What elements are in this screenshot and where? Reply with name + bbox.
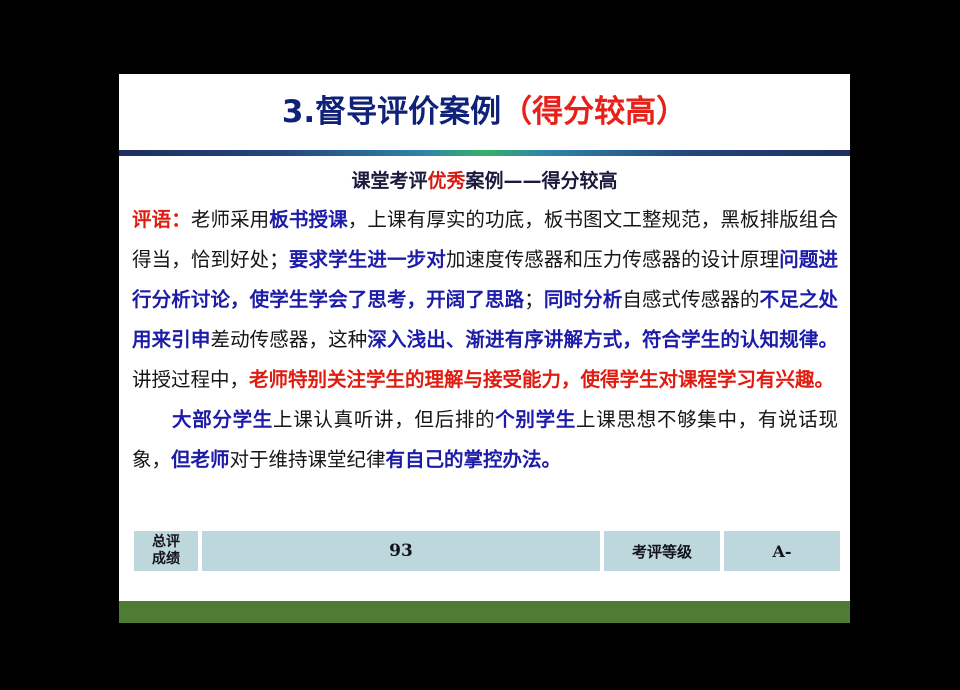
text-run-blk: 自感式传感器的	[622, 288, 759, 311]
text-run-red: 评语：	[132, 208, 191, 231]
text-run-blk: 对于维持课堂纪律	[230, 448, 386, 471]
title-divider-rule	[119, 150, 850, 156]
grade-value-cell: A-	[724, 531, 840, 571]
comment-paragraph: 评语：老师采用板书授课，上课有厚实的功底，板书图文工整规范，黑板排版组合得当，恰…	[132, 200, 838, 400]
slide-subtitle: 课堂考评优秀案例——得分较高	[119, 166, 850, 193]
students-paragraph: 大部分学生上课认真听讲，但后排的个别学生上课思想不够集中，有说话现象，但老师对于…	[132, 400, 838, 480]
slide-body-text: 评语：老师采用板书授课，上课有厚实的功底，板书图文工整规范，黑板排版组合得当，恰…	[132, 200, 838, 480]
slide-title-main: 3.督导评价案例	[282, 97, 501, 128]
total-score-value-cell: 93	[202, 531, 600, 571]
text-run-red: 老师特别关注学生的理解与接受能力，使得学生对课程学习有兴趣。	[249, 368, 834, 391]
text-run-blue: 大部分学生	[172, 408, 273, 431]
total-score-label-line2: 成绩	[152, 551, 180, 568]
text-run-blk: ；	[524, 288, 544, 311]
text-run-blue: 个别学生	[495, 408, 576, 431]
slide-title-parenthetical: （得分较高）	[501, 97, 687, 128]
text-run-blk: 讲授过程中，	[132, 368, 249, 391]
text-run-blue: 要求学生进一步对	[289, 248, 446, 271]
subtitle-part-2: 案例——得分较高	[466, 170, 618, 192]
subtitle-part-1: 课堂考评	[351, 170, 427, 192]
text-run-blue: 但老师	[171, 448, 230, 471]
text-run-blk: 上课认真听讲，但后排的	[273, 408, 495, 431]
screenshot-stage: 3.督导评价案例 （得分较高） 课堂考评优秀案例——得分较高 评语：老师采用板书…	[0, 0, 960, 690]
text-run-blue: 有自己的掌控办法。	[386, 448, 562, 471]
total-score-label-cell: 总评 成绩	[134, 531, 198, 571]
subtitle-highlight: 优秀	[427, 170, 465, 192]
slide-title: 3.督导评价案例 （得分较高）	[119, 74, 850, 150]
text-run-blue: 板书授课	[269, 208, 347, 231]
text-run-blk: 加速度传感器和压力传感器的设计原理	[446, 248, 779, 271]
text-run-blue: 同时分析	[544, 288, 623, 311]
text-run-blue: 深入浅出、渐进有序讲解方式，符合学生的认知规律。	[367, 328, 838, 351]
text-run-blk: 差动传感器，这种	[210, 328, 367, 351]
text-run-blk: 老师采用	[191, 208, 269, 231]
score-summary-table: 总评 成绩 93 考评等级 A-	[119, 531, 850, 571]
grade-label-cell: 考评等级	[604, 531, 720, 571]
presentation-slide: 3.督导评价案例 （得分较高） 课堂考评优秀案例——得分较高 评语：老师采用板书…	[119, 74, 850, 623]
slide-footer-band	[119, 601, 850, 623]
total-score-label-line1: 总评	[152, 534, 180, 551]
